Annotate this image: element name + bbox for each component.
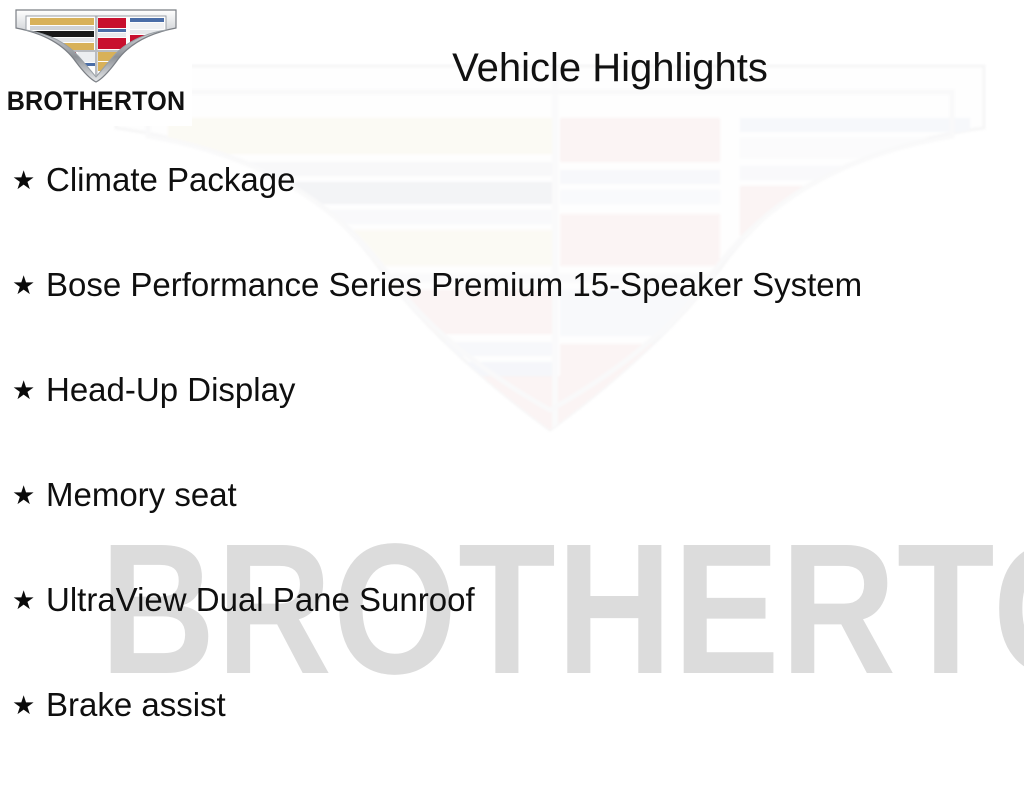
page-content: BROTHERTON Vehicle Highlights ★ Climate …	[0, 0, 1024, 768]
highlight-label: Head-Up Display	[46, 368, 295, 412]
page-title: Vehicle Highlights	[0, 44, 1024, 92]
star-bullet-icon: ★	[12, 683, 46, 727]
highlight-label: Brake assist	[46, 683, 226, 727]
star-bullet-icon: ★	[12, 158, 46, 202]
star-bullet-icon: ★	[12, 263, 46, 307]
highlight-label: UltraView Dual Pane Sunroof	[46, 578, 475, 622]
star-bullet-icon: ★	[12, 368, 46, 412]
highlight-label: Climate Package	[46, 158, 295, 202]
star-bullet-icon: ★	[12, 578, 46, 622]
highlight-label: Bose Performance Series Premium 15-Speak…	[46, 263, 862, 307]
list-item: ★ UltraView Dual Pane Sunroof	[0, 578, 1024, 683]
list-item: ★ Climate Package	[0, 158, 1024, 263]
star-bullet-icon: ★	[12, 473, 46, 517]
list-item: ★ Brake assist	[0, 683, 1024, 788]
list-item: ★ Bose Performance Series Premium 15-Spe…	[0, 263, 1024, 368]
list-item: ★ Memory seat	[0, 473, 1024, 578]
highlight-label: Memory seat	[46, 473, 237, 517]
list-item: ★ Head-Up Display	[0, 368, 1024, 473]
vehicle-highlights-list: ★ Climate Package ★ Bose Performance Ser…	[0, 158, 1024, 788]
